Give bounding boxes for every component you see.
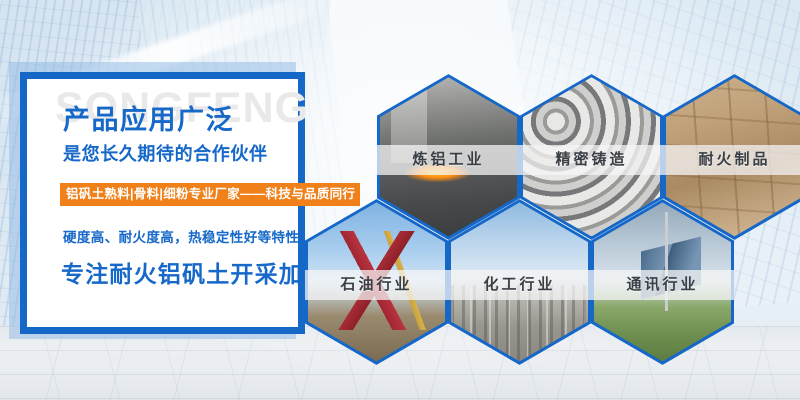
banner-tagline-badge: 铝矾土熟料|骨料|细粉专业厂家——科技与品质同行 [60, 183, 360, 206]
hex-label-oil-industry: 石油行业 [305, 270, 448, 300]
hex-label-communication-industry: 通讯行业 [591, 270, 734, 300]
hex-label-chemical-industry: 化工行业 [448, 270, 591, 300]
hex-label-refractory-products: 耐火制品 [663, 145, 800, 175]
hex-label-precision-casting: 精密铸造 [520, 145, 663, 175]
hex-label-aluminum-smelting: 炼铝工业 [377, 145, 520, 175]
